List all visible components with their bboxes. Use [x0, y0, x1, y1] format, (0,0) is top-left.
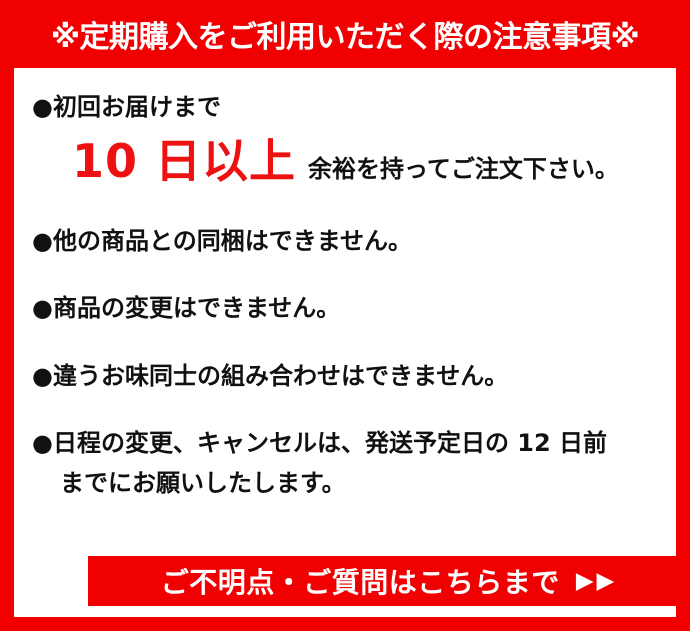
notice-list: ●初回お届けまで 10 日以上 余裕を持ってご注文下さい。 ●他の商品との同梱は… [14, 68, 676, 617]
notice-item-no-product-change: ●商品の変更はできません。 [14, 295, 676, 323]
banner-header-title: ※定期購入をご利用いただく際の注意事項※ [0, 0, 690, 68]
subscription-notice-banner: ※定期購入をご利用いただく際の注意事項※ ●初回お届けまで 10 日以上 余裕を… [0, 0, 690, 631]
lead-time-value: 10 日以上 [72, 138, 296, 184]
notice-item-reschedule: ●日程の変更、キャンセルは、発送予定日の 12 日前 [14, 430, 676, 458]
notice-item-first-delivery: ●初回お届けまで [14, 94, 676, 122]
notice-item-lead-time: 10 日以上 余裕を持ってご注文下さい。 [14, 138, 676, 184]
frame-right-bar [676, 0, 690, 631]
frame-left-bar [0, 0, 14, 631]
contact-cta-label: ご不明点・ご質問はこちらまで [161, 561, 560, 601]
notice-item-reschedule-continued: までにお願いしたします。 [14, 470, 676, 498]
double-right-arrow-icon: ▶▶ [576, 570, 617, 593]
notice-item-no-bundle: ●他の商品との同梱はできません。 [14, 228, 676, 256]
frame-bottom-bar [0, 617, 690, 631]
notice-item-no-flavor-mix: ●違うお味同士の組み合わせはできません。 [14, 363, 676, 391]
contact-cta-button[interactable]: ご不明点・ご質問はこちらまで ▶▶ [88, 556, 690, 606]
lead-time-instruction: 余裕を持ってご注文下さい。 [308, 157, 619, 181]
